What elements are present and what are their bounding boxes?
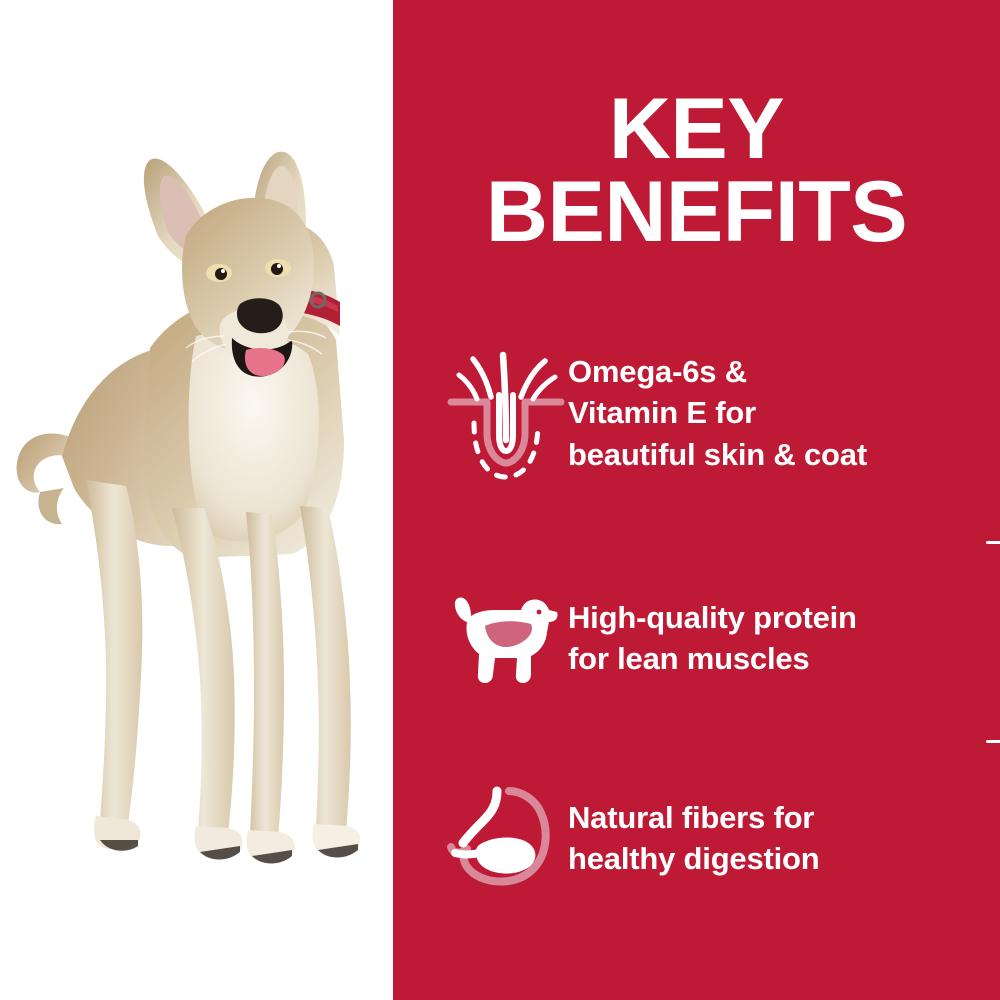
key-benefits-infographic: KEY BENEFITS [0,0,1000,1000]
dog-hind-leg-near [172,508,235,834]
benefit-text-digestion: Natural fibers for healthy digestion [568,797,820,879]
stomach-digestion-icon [443,778,568,898]
benefit-line: Vitamin E for [568,392,867,433]
benefit-line: High-quality protein [568,597,857,638]
dog-photo [0,140,393,890]
hair-follicle-icon [443,353,568,473]
dog-photo-panel [0,0,393,1000]
benefit-line: Omega-6s & [568,351,867,392]
benefit-line: Natural fibers for [568,797,820,838]
benefit-item-protein: High-quality protein for lean muscles [443,583,1000,693]
title-line-key: KEY [393,88,1000,171]
title-line-benefits: BENEFITS [393,171,1000,254]
dog-front-leg-far [246,512,284,838]
dog-hind-leg-far [86,480,142,824]
benefit-item-skin-coat: Omega-6s & Vitamin E for beautiful skin … [443,338,1000,488]
dog-eye-left [206,264,232,282]
benefit-divider [986,541,1000,544]
benefit-line: for lean muscles [568,638,857,679]
key-benefits-panel: KEY BENEFITS [393,0,1000,1000]
page-title: KEY BENEFITS [393,88,1000,253]
benefit-line: beautiful skin & coat [568,434,867,475]
dog-eye-right [265,259,291,277]
benefit-text-skin-coat: Omega-6s & Vitamin E for beautiful skin … [568,351,867,475]
benefit-line: healthy digestion [568,838,820,879]
benefit-text-protein: High-quality protein for lean muscles [568,597,857,679]
dog-muscle-icon [443,578,568,698]
benefit-item-digestion: Natural fibers for healthy digestion [443,783,1000,893]
benefit-divider [986,740,1000,743]
dog-front-leg-near [300,506,351,832]
